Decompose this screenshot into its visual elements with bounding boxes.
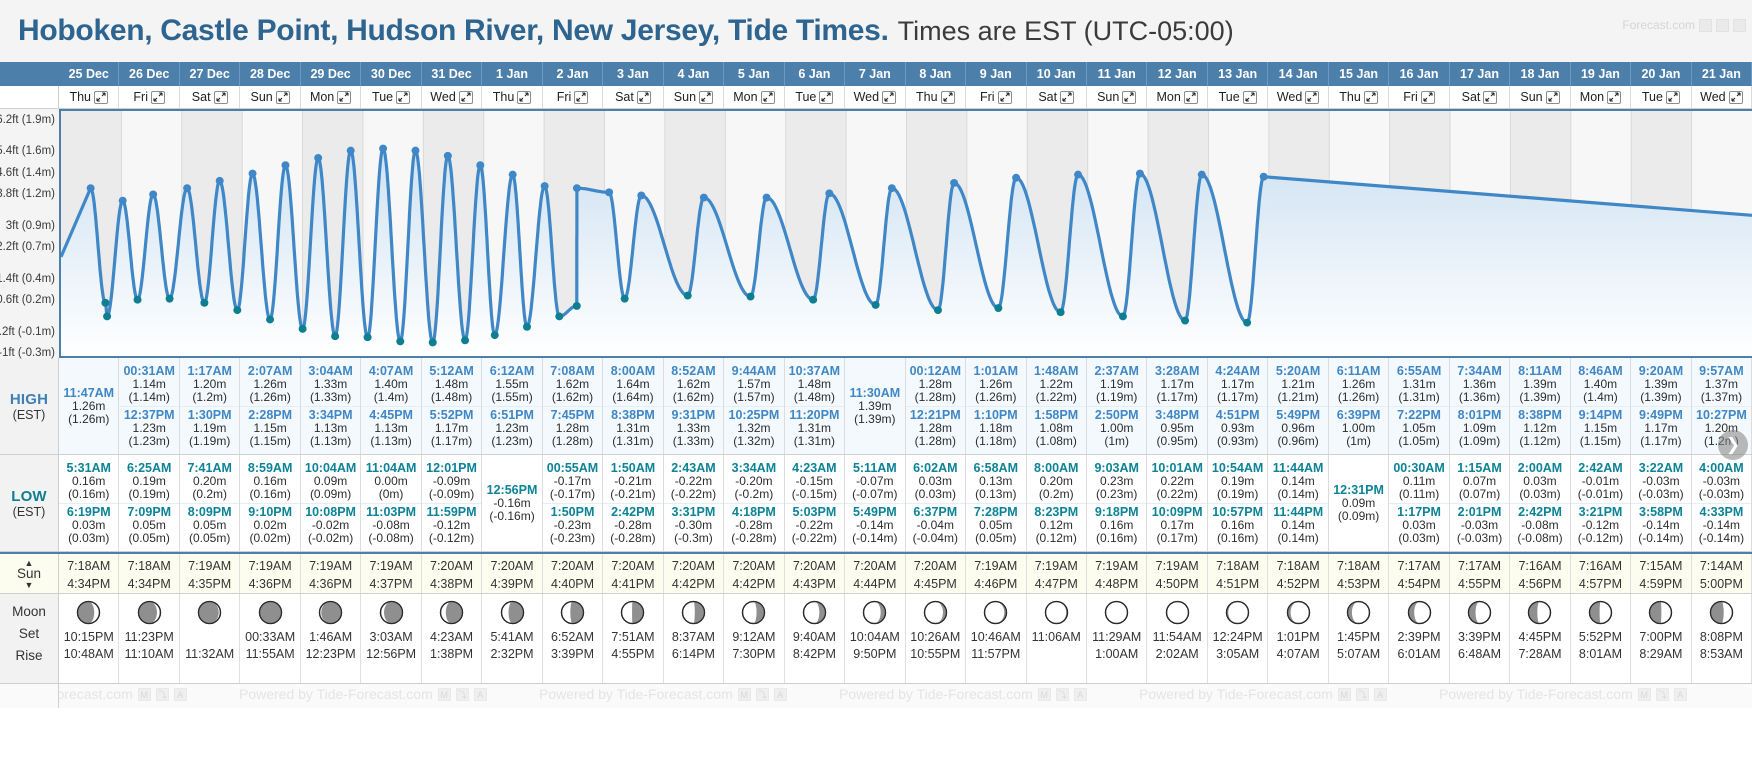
moonset-time: 10:15PM bbox=[59, 629, 118, 646]
low-tide-cell: 4:23AM-0.15m(-0.15m)5:03PM-0.22m(-0.22m) bbox=[785, 455, 845, 551]
moon-cell: 7:00PM8:29AM bbox=[1631, 594, 1691, 683]
sunset-time: 4:34PM bbox=[59, 575, 118, 593]
tide-event-height: -0.17m bbox=[543, 475, 602, 488]
tide-event-time: 7:45PM bbox=[543, 408, 602, 422]
tide-event: 2:07AM1.26m(1.26m) bbox=[240, 363, 299, 406]
tide-event: 8:11AM1.39m(1.39m) bbox=[1510, 363, 1569, 406]
high-tide-marker bbox=[249, 170, 257, 178]
low-tide-marker bbox=[994, 304, 1002, 312]
date-header-cell[interactable]: 4 Jan bbox=[664, 62, 724, 86]
expand-icon[interactable] bbox=[699, 91, 713, 104]
tide-event-height: -0.07m bbox=[845, 475, 904, 488]
expand-icon[interactable] bbox=[882, 91, 896, 104]
date-header-cell[interactable]: 10 Jan bbox=[1027, 62, 1087, 86]
tide-event-height-alt: (1.23m) bbox=[482, 435, 541, 448]
moonset-time: 11:06AM bbox=[1027, 629, 1086, 646]
tide-event-time: 3:21PM bbox=[1571, 505, 1630, 519]
tide-event-height-alt: (1.08m) bbox=[1027, 435, 1086, 448]
sun-cell: 7:18AM4:53PM bbox=[1329, 554, 1389, 593]
tide-event-height: 1.40m bbox=[361, 378, 420, 391]
moonset-time: 8:37AM bbox=[664, 629, 723, 646]
tide-event-height-alt: (0.14m) bbox=[1268, 532, 1327, 545]
tide-event-height-alt: (0.13m) bbox=[966, 488, 1025, 501]
high-tide-marker bbox=[119, 197, 127, 205]
expand-icon[interactable] bbox=[1607, 91, 1621, 104]
expand-icon[interactable] bbox=[819, 91, 833, 104]
sun-cell: 7:18AM4:51PM bbox=[1208, 554, 1268, 593]
sunrise-time: 7:17AM bbox=[1389, 557, 1448, 575]
high-tide-cell: 11:47AM1.26m(1.26m) bbox=[59, 358, 119, 454]
chart-y-tick: 6.2ft (1.9m) bbox=[0, 114, 55, 126]
low-tide-marker bbox=[684, 292, 692, 300]
tide-event-time: 3:58PM bbox=[1631, 505, 1690, 519]
tide-event-time: 1:15AM bbox=[1450, 461, 1509, 475]
date-header-cell[interactable]: 21 Jan bbox=[1692, 62, 1752, 86]
tide-event-time: 8:59AM bbox=[240, 461, 299, 475]
tide-event-height: 1.19m bbox=[180, 422, 239, 435]
low-tide-marker bbox=[491, 331, 499, 339]
tide-chart-plot[interactable] bbox=[59, 109, 1752, 358]
high-tide-marker bbox=[888, 184, 896, 192]
tide-event-height-alt: (-0.09m) bbox=[422, 488, 481, 501]
moonset-time: 9:40AM bbox=[785, 629, 844, 646]
tide-event-height: 0.05m bbox=[180, 519, 239, 532]
tide-event: 1:58PM1.08m(1.08m) bbox=[1027, 406, 1086, 450]
tide-event-height: -0.09m bbox=[422, 475, 481, 488]
tide-event-height: 1.13m bbox=[361, 422, 420, 435]
tide-event: 11:44PM0.14m(0.14m) bbox=[1268, 503, 1327, 547]
tide-event-height: 0.22m bbox=[1147, 475, 1206, 488]
tide-event-time: 5:12AM bbox=[422, 364, 481, 378]
sunset-time: 4:40PM bbox=[543, 575, 602, 593]
weekday-text: Mon bbox=[310, 86, 334, 108]
moon-label: Moon Set Rise bbox=[0, 594, 59, 683]
moon-cell: 4:23AM1:38PM bbox=[422, 594, 482, 683]
moonrise-time: 11:10AM bbox=[119, 646, 178, 663]
sunrise-time: 7:19AM bbox=[1147, 557, 1206, 575]
moonset-time: 9:12AM bbox=[724, 629, 783, 646]
sun-label-text: Sun bbox=[17, 567, 41, 581]
weekday-text: Fri bbox=[133, 86, 148, 108]
tide-event-height-alt: (-0.01m) bbox=[1571, 488, 1630, 501]
high-tide-cell: 2:07AM1.26m(1.26m)2:28PM1.15m(1.15m) bbox=[240, 358, 300, 454]
tide-event-height-alt: (1m) bbox=[1087, 435, 1146, 448]
date-header-text: 1 Jan bbox=[496, 67, 528, 81]
tide-event-height: 1.21m bbox=[1268, 378, 1327, 391]
tide-event-height-alt: (1.31m) bbox=[603, 435, 662, 448]
expand-icon[interactable] bbox=[1421, 91, 1435, 104]
sun-cell: 7:19AM4:36PM bbox=[240, 554, 300, 593]
tide-event-time: 2:07AM bbox=[240, 364, 299, 378]
date-header-cell[interactable]: 3 Jan bbox=[603, 62, 663, 86]
tide-event-height-alt: (1.33m) bbox=[664, 435, 723, 448]
sun-cell: 7:18AM4:52PM bbox=[1268, 554, 1328, 593]
moonrise-time: 8:53AM bbox=[1692, 646, 1751, 663]
weekday-cell: Sat bbox=[1450, 86, 1510, 108]
sunset-time: 4:35PM bbox=[180, 575, 239, 593]
date-header-text: 11 Jan bbox=[1098, 67, 1136, 81]
expand-icon[interactable] bbox=[1364, 91, 1378, 104]
moon-phase-icon bbox=[500, 600, 525, 625]
sunset-time: 4:43PM bbox=[785, 575, 844, 593]
high-tide-marker bbox=[1136, 170, 1144, 178]
tide-event-height: 1.33m bbox=[664, 422, 723, 435]
tide-event-height: -0.08m bbox=[1510, 519, 1569, 532]
expand-icon[interactable] bbox=[276, 91, 290, 104]
sun-cell: 7:17AM4:54PM bbox=[1389, 554, 1449, 593]
tide-event-height: -0.14m bbox=[1692, 519, 1751, 532]
tide-event-time: 11:44AM bbox=[1268, 461, 1327, 475]
weekday-cell: Mon bbox=[1571, 86, 1631, 108]
expand-icon[interactable] bbox=[1060, 91, 1074, 104]
tide-event-height: 0.03m bbox=[59, 519, 118, 532]
weekday-text: Thu bbox=[69, 86, 91, 108]
date-header-cell[interactable]: 15 Jan bbox=[1329, 62, 1389, 86]
expand-icon[interactable] bbox=[396, 91, 410, 104]
sun-cell: 7:20AM4:41PM bbox=[603, 554, 663, 593]
tide-event-time: 2:42PM bbox=[603, 505, 662, 519]
tide-event: 2:42PM-0.08m(-0.08m) bbox=[1510, 503, 1569, 547]
tide-event-time: 00:30AM bbox=[1389, 461, 1448, 475]
tide-table: 25 Dec26 Dec27 Dec28 Dec29 Dec30 Dec31 D… bbox=[0, 62, 1752, 780]
moon-phase-icon bbox=[1346, 600, 1371, 625]
tide-event-time: 8:09PM bbox=[180, 505, 239, 519]
date-header-cell[interactable]: 30 Dec bbox=[361, 62, 421, 86]
date-header-text: 10 Jan bbox=[1037, 67, 1076, 81]
date-header-cell[interactable]: 31 Dec bbox=[422, 62, 482, 86]
expand-icon[interactable] bbox=[574, 91, 588, 104]
footer-watermark-text: Powered by Tide-Forecast.com bbox=[1139, 686, 1333, 702]
scroll-right-icon[interactable]: ❯ bbox=[1718, 430, 1748, 460]
sunrise-time: 7:20AM bbox=[724, 557, 783, 575]
expand-icon[interactable] bbox=[337, 91, 351, 104]
tide-event: 1:15AM0.07m(0.07m) bbox=[1450, 460, 1509, 503]
date-header-text: 2 Jan bbox=[557, 67, 589, 81]
tide-event-height-alt: (1.39m) bbox=[1631, 391, 1690, 404]
expand-icon[interactable] bbox=[1184, 91, 1198, 104]
sun-cell: 7:16AM4:56PM bbox=[1510, 554, 1570, 593]
tide-event-height-alt: (-0.22m) bbox=[785, 532, 844, 545]
tide-event: 7:28PM0.05m(0.05m) bbox=[966, 503, 1025, 547]
tide-event-height: 1.20m bbox=[180, 378, 239, 391]
footer-watermark-box-1: M bbox=[1638, 688, 1651, 701]
tide-event-time: 9:14PM bbox=[1571, 408, 1630, 422]
date-header-cell[interactable]: 12 Jan bbox=[1147, 62, 1207, 86]
low-tide-marker bbox=[1057, 308, 1065, 316]
tide-event-height: 1.48m bbox=[422, 378, 481, 391]
date-header-text: 31 Dec bbox=[431, 67, 471, 81]
date-header-text: 13 Jan bbox=[1218, 67, 1257, 81]
date-header-cell[interactable]: 8 Jan bbox=[906, 62, 966, 86]
date-header-cell[interactable]: 26 Dec bbox=[119, 62, 179, 86]
sunset-time: 4:54PM bbox=[1389, 575, 1448, 593]
tide-event-height: 1.19m bbox=[1087, 378, 1146, 391]
tide-event-height-alt: (1.15m) bbox=[240, 435, 299, 448]
date-header-cell[interactable]: 18 Jan bbox=[1510, 62, 1570, 86]
tide-event-height: -0.30m bbox=[664, 519, 723, 532]
weekday-cell: Thu bbox=[906, 86, 966, 108]
moonrise-label-text: Rise bbox=[15, 648, 42, 663]
expand-icon[interactable] bbox=[151, 91, 165, 104]
sunset-time: 4:48PM bbox=[1087, 575, 1146, 593]
tide-event-height-alt: (0.17m) bbox=[1147, 532, 1206, 545]
weekday-cell: Thu bbox=[59, 86, 119, 108]
tide-event-height-alt: (1m) bbox=[1329, 435, 1388, 448]
weekday-text: Tue bbox=[795, 86, 816, 108]
tide-event: 00:31AM1.14m(1.14m) bbox=[119, 363, 178, 406]
date-header-cell[interactable]: 28 Dec bbox=[240, 62, 300, 86]
tide-event-height: 1.39m bbox=[845, 400, 904, 413]
tide-event-time: 1:50AM bbox=[603, 461, 662, 475]
weekday-cell: Mon bbox=[1147, 86, 1207, 108]
footer-corner bbox=[0, 684, 59, 708]
moon-cell: 11:54AM2:02AM bbox=[1147, 594, 1207, 683]
sunset-time: 4:34PM bbox=[119, 575, 178, 593]
tide-event-time: 2:50PM bbox=[1087, 408, 1146, 422]
low-tide-row: LOW (EST) 5:31AM0.16m(0.16m)6:19PM0.03m(… bbox=[0, 455, 1752, 552]
expand-icon[interactable] bbox=[998, 91, 1012, 104]
tide-event-time: 7:28PM bbox=[966, 505, 1025, 519]
moon-phase-icon bbox=[1286, 600, 1311, 625]
tide-event-height: 0.14m bbox=[1268, 475, 1327, 488]
tide-event-height: 0.03m bbox=[906, 475, 965, 488]
sunset-time: 4:42PM bbox=[724, 575, 783, 593]
date-header-cell[interactable]: 29 Dec bbox=[301, 62, 361, 86]
tide-event-height: 0.02m bbox=[240, 519, 299, 532]
date-header-cell[interactable]: 25 Dec bbox=[59, 62, 119, 86]
high-tide-cell: 8:00AM1.64m(1.64m)8:38PM1.31m(1.31m) bbox=[603, 358, 663, 454]
tide-event: 5:49PM-0.14m(-0.14m) bbox=[845, 503, 904, 547]
tide-event: 3:04AM1.33m(1.33m) bbox=[301, 363, 360, 406]
tide-event-time: 8:52AM bbox=[664, 364, 723, 378]
low-tide-cell: 5:31AM0.16m(0.16m)6:19PM0.03m(0.03m) bbox=[59, 455, 119, 551]
footer-watermark: Powered by Tide-Forecast.comM⤵A bbox=[59, 686, 187, 702]
expand-icon[interactable] bbox=[941, 91, 955, 104]
sunrise-time: 7:19AM bbox=[1027, 557, 1086, 575]
sunset-time: 4:37PM bbox=[361, 575, 420, 593]
date-header-cell[interactable]: 13 Jan bbox=[1208, 62, 1268, 86]
expand-icon[interactable] bbox=[761, 91, 775, 104]
high-tide-marker bbox=[216, 177, 224, 185]
high-tide-cell: 1:01AM1.26m(1.26m)1:10PM1.18m(1.18m) bbox=[966, 358, 1026, 454]
date-header-cell[interactable]: 19 Jan bbox=[1571, 62, 1631, 86]
tide-event: 8:59AM0.16m(0.16m) bbox=[240, 460, 299, 503]
tide-event: 7:45PM1.28m(1.28m) bbox=[543, 406, 602, 450]
moon-cell: 3:39PM6:48AM bbox=[1450, 594, 1510, 683]
high-tide-cell: 7:08AM1.62m(1.62m)7:45PM1.28m(1.28m) bbox=[543, 358, 603, 454]
moon-phase-icon bbox=[1527, 600, 1552, 625]
tide-event-time: 11:59PM bbox=[422, 505, 481, 519]
high-tide-marker bbox=[573, 184, 581, 192]
date-header-cell[interactable]: 7 Jan bbox=[845, 62, 905, 86]
footer-watermark-box-3: A bbox=[474, 688, 487, 701]
expand-icon[interactable] bbox=[637, 91, 651, 104]
high-tide-cell: 9:20AM1.39m(1.39m)9:49PM1.17m(1.17m) bbox=[1631, 358, 1691, 454]
tide-event-time: 5:49PM bbox=[1268, 408, 1327, 422]
expand-icon[interactable] bbox=[94, 91, 108, 104]
moonrise-time: 10:55PM bbox=[906, 646, 965, 663]
tide-event-height: 1.18m bbox=[966, 422, 1025, 435]
low-tide-marker bbox=[555, 312, 563, 320]
tide-event-height: -0.21m bbox=[603, 475, 662, 488]
low-tide-marker bbox=[934, 306, 942, 314]
tide-event-height-alt: (1.21m) bbox=[1268, 391, 1327, 404]
expand-icon[interactable] bbox=[1243, 91, 1257, 104]
expand-icon[interactable] bbox=[1729, 91, 1743, 104]
low-tide-cell: 4:00AM-0.03m(-0.03m)4:33PM-0.14m(-0.14m) bbox=[1692, 455, 1752, 551]
tide-event-height: 1.14m bbox=[119, 378, 178, 391]
low-tide-marker bbox=[299, 325, 307, 333]
date-header-cell[interactable]: 17 Jan bbox=[1450, 62, 1510, 86]
moon-cell: 9:40AM8:42PM bbox=[785, 594, 845, 683]
tide-event-height: 0.09m bbox=[1329, 497, 1388, 510]
date-header-cell[interactable]: 2 Jan bbox=[543, 62, 603, 86]
tide-event-height-alt: (1.17m) bbox=[1147, 391, 1206, 404]
moonrise-time: 4:07AM bbox=[1268, 646, 1327, 663]
date-header-cell[interactable]: 6 Jan bbox=[785, 62, 845, 86]
date-header-cell[interactable]: 11 Jan bbox=[1087, 62, 1147, 86]
tide-event-time: 2:42PM bbox=[1510, 505, 1569, 519]
tide-event-height-alt: (0.16m) bbox=[59, 488, 118, 501]
weekday-text: Wed bbox=[1277, 86, 1302, 108]
tide-event-time: 10:25PM bbox=[724, 408, 783, 422]
footer-watermark: Powered by Tide-Forecast.comM⤵A bbox=[1139, 686, 1387, 702]
tide-event-height-alt: (0.23m) bbox=[1087, 488, 1146, 501]
tide-event-height-alt: (1.64m) bbox=[603, 391, 662, 404]
tide-event: 12:37PM1.23m(1.23m) bbox=[119, 406, 178, 450]
high-tide-cell: 3:28AM1.17m(1.17m)3:48PM0.95m(0.95m) bbox=[1147, 358, 1207, 454]
tide-event-time: 2:01PM bbox=[1450, 505, 1509, 519]
moonrise-time: 8:42PM bbox=[785, 646, 844, 663]
tide-event-height: 1.31m bbox=[603, 422, 662, 435]
date-header-text: 4 Jan bbox=[677, 67, 709, 81]
tide-event-height: 1.17m bbox=[1631, 422, 1690, 435]
moon-cell: 11:23PM11:10AM bbox=[119, 594, 179, 683]
moonrise-time: 3:39PM bbox=[543, 646, 602, 663]
sun-cell: 7:16AM4:57PM bbox=[1571, 554, 1631, 593]
tide-event-height: 0.23m bbox=[1087, 475, 1146, 488]
high-tide-cell: 11:30AM1.39m(1.39m) bbox=[845, 358, 905, 454]
date-header-cell[interactable]: 5 Jan bbox=[724, 62, 784, 86]
tide-event: 11:20PM1.31m(1.31m) bbox=[785, 406, 844, 450]
expand-icon[interactable] bbox=[459, 91, 473, 104]
tide-event-height: 1.09m bbox=[1450, 422, 1509, 435]
tide-event-height-alt: (-0.12m) bbox=[422, 532, 481, 545]
date-header-cell[interactable]: 27 Dec bbox=[180, 62, 240, 86]
tide-event-height-alt: (1.15m) bbox=[1571, 435, 1630, 448]
sun-cell: 7:17AM4:55PM bbox=[1450, 554, 1510, 593]
sunrise-time: 7:18AM bbox=[119, 557, 178, 575]
moon-phase-icon bbox=[197, 600, 222, 625]
moon-row: Moon Set Rise 10:15PM10:48AM11:23PM11:10… bbox=[0, 594, 1752, 684]
weekday-cell: Sun bbox=[664, 86, 724, 108]
weekday-cell: Tue bbox=[361, 86, 421, 108]
high-tide-marker bbox=[314, 154, 322, 162]
sun-cell: 7:20AM4:44PM bbox=[845, 554, 905, 593]
date-header-cell[interactable]: 16 Jan bbox=[1389, 62, 1449, 86]
tide-event-height-alt: (0.05m) bbox=[180, 532, 239, 545]
tide-event-time: 7:22PM bbox=[1389, 408, 1448, 422]
date-header-cell[interactable]: 14 Jan bbox=[1268, 62, 1328, 86]
date-header-text: 17 Jan bbox=[1460, 67, 1499, 81]
date-header-cell[interactable]: 9 Jan bbox=[966, 62, 1026, 86]
high-tide-marker bbox=[379, 145, 387, 153]
sun-cell: 7:20AM4:38PM bbox=[422, 554, 482, 593]
expand-icon[interactable] bbox=[214, 91, 228, 104]
tide-event-time: 6:55AM bbox=[1389, 364, 1448, 378]
expand-icon[interactable] bbox=[1305, 91, 1319, 104]
tide-event-time: 3:04AM bbox=[301, 364, 360, 378]
expand-icon[interactable] bbox=[1546, 91, 1560, 104]
tide-event-time: 7:09PM bbox=[119, 505, 178, 519]
tide-event-time: 11:47AM bbox=[59, 386, 118, 400]
tide-event-height: 1.17m bbox=[1208, 378, 1267, 391]
weekday-text: Sun bbox=[251, 86, 273, 108]
tide-event-height: 1.62m bbox=[664, 378, 723, 391]
tide-event-height-alt: (1.17m) bbox=[422, 435, 481, 448]
moon-cell: 11:29AM1:00AM bbox=[1087, 594, 1147, 683]
low-tide-marker bbox=[809, 296, 817, 304]
tide-event-time: 12:56PM bbox=[482, 483, 541, 497]
tide-event: 8:01PM1.09m(1.09m) bbox=[1450, 406, 1509, 450]
expand-icon[interactable] bbox=[1122, 91, 1136, 104]
low-tide-marker bbox=[266, 316, 274, 324]
weekday-text: Sat bbox=[192, 86, 211, 108]
tide-event-height: -0.12m bbox=[1571, 519, 1630, 532]
footer-watermark-row: Powered by Tide-Forecast.comM⤵APowered b… bbox=[0, 684, 1752, 708]
low-tide-marker bbox=[134, 296, 142, 304]
high-tide-marker bbox=[183, 184, 191, 192]
tide-event-time: 12:31PM bbox=[1329, 483, 1388, 497]
tide-event-height: 1.23m bbox=[482, 422, 541, 435]
page-title-bar: Hoboken, Castle Point, Hudson River, New… bbox=[0, 0, 1752, 62]
tide-event-height-alt: (-0.28m) bbox=[724, 532, 783, 545]
expand-icon[interactable] bbox=[1483, 91, 1497, 104]
tide-event-time: 11:30AM bbox=[845, 386, 904, 400]
moonset-time: 3:03AM bbox=[361, 629, 420, 646]
tide-event-height: -0.03m bbox=[1631, 475, 1690, 488]
tide-event-height: -0.28m bbox=[724, 519, 783, 532]
high-tide-marker bbox=[763, 194, 771, 202]
sun-row: ▲ Sun ▼ 7:18AM4:34PM7:18AM4:34PM7:19AM4:… bbox=[0, 552, 1752, 594]
low-tide-cell: 10:01AM0.22m(0.22m)10:09PM0.17m(0.17m) bbox=[1147, 455, 1207, 551]
tide-event-time: 2:28PM bbox=[240, 408, 299, 422]
moon-cell: 5:41AM2:32PM bbox=[482, 594, 542, 683]
weekday-text: Mon bbox=[733, 86, 757, 108]
low-tide-cell: 12:56PM-0.16m(-0.16m) bbox=[482, 455, 542, 551]
tide-event-time: 10:01AM bbox=[1147, 461, 1206, 475]
date-header-cell[interactable]: 1 Jan bbox=[482, 62, 542, 86]
expand-icon[interactable] bbox=[1666, 91, 1680, 104]
page-title-timezone: Times are EST (UTC-05:00) bbox=[898, 16, 1234, 47]
date-header-cell[interactable]: 20 Jan bbox=[1631, 62, 1691, 86]
date-header-text: 26 Dec bbox=[129, 67, 169, 81]
footer-watermark: Powered by Tide-Forecast.comM⤵A bbox=[239, 686, 487, 702]
moonset-time: 1:46AM bbox=[301, 629, 360, 646]
tide-event-height-alt: (0.05m) bbox=[119, 532, 178, 545]
tide-event-height: 0.05m bbox=[966, 519, 1025, 532]
tide-event: 11:47AM1.26m(1.26m) bbox=[59, 385, 118, 428]
tide-event: 9:31PM1.33m(1.33m) bbox=[664, 406, 723, 450]
tide-event-height-alt: (-0.22m) bbox=[664, 488, 723, 501]
date-header-text: 6 Jan bbox=[798, 67, 830, 81]
tide-event-height: 1.39m bbox=[1510, 378, 1569, 391]
expand-icon[interactable] bbox=[517, 91, 531, 104]
tide-event-time: 9:18PM bbox=[1087, 505, 1146, 519]
high-tide-row: HIGH (EST) 11:47AM1.26m(1.26m)00:31AM1.1… bbox=[0, 358, 1752, 455]
low-tide-cell: 2:00AM0.03m(0.03m)2:42PM-0.08m(-0.08m) bbox=[1510, 455, 1570, 551]
tide-event-time: 10:57PM bbox=[1208, 505, 1267, 519]
